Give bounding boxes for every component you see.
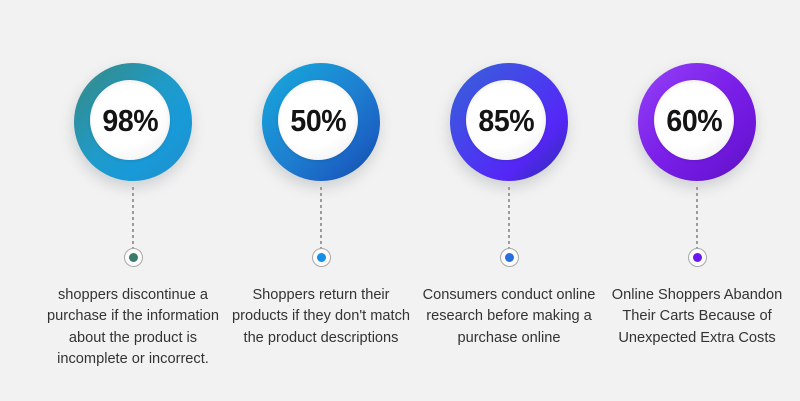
- infographic-canvas: 98% shoppers discontinue a purchase if t…: [0, 0, 800, 401]
- connector-3: [499, 187, 519, 273]
- stat-caption-3: Consumers conduct online research before…: [416, 285, 602, 349]
- stat-value-3: 85%: [478, 105, 534, 136]
- stat-value-4: 60%: [666, 105, 722, 136]
- stat-card-2: 50% Shoppers return their products if th…: [228, 0, 414, 401]
- ring-center-disc-1: 98%: [90, 80, 170, 160]
- stat-card-1: 98% shoppers discontinue a purchase if t…: [40, 0, 226, 401]
- node-dot-2: [317, 253, 326, 262]
- stat-value-2: 50%: [290, 105, 346, 136]
- ring-center-disc-4: 60%: [654, 80, 734, 160]
- node-marker-3: [500, 248, 519, 267]
- connector-4: [687, 187, 707, 273]
- progress-ring-2: 50%: [259, 61, 383, 185]
- node-marker-1: [124, 248, 143, 267]
- dotted-line-2: [320, 187, 322, 249]
- node-marker-4: [688, 248, 707, 267]
- connector-2: [311, 187, 331, 273]
- stat-caption-1: shoppers discontinue a purchase if the i…: [40, 285, 226, 371]
- progress-ring-1: 98%: [71, 61, 195, 185]
- node-dot-1: [129, 253, 138, 262]
- node-dot-4: [693, 253, 702, 262]
- stat-value-1: 98%: [102, 105, 158, 136]
- dotted-line-4: [696, 187, 698, 249]
- stat-card-4: 60% Online Shoppers Abandon Their Carts …: [604, 0, 790, 401]
- stat-card-3: 85% Consumers conduct online research be…: [416, 0, 602, 401]
- node-dot-3: [505, 253, 514, 262]
- stat-caption-4: Online Shoppers Abandon Their Carts Beca…: [604, 285, 790, 349]
- connector-1: [123, 187, 143, 273]
- dotted-line-3: [508, 187, 510, 249]
- ring-center-disc-3: 85%: [466, 80, 546, 160]
- stat-caption-2: Shoppers return their products if they d…: [228, 285, 414, 349]
- ring-center-disc-2: 50%: [278, 80, 358, 160]
- node-marker-2: [312, 248, 331, 267]
- progress-ring-3: 85%: [447, 61, 571, 185]
- dotted-line-1: [132, 187, 134, 249]
- progress-ring-4: 60%: [635, 61, 759, 185]
